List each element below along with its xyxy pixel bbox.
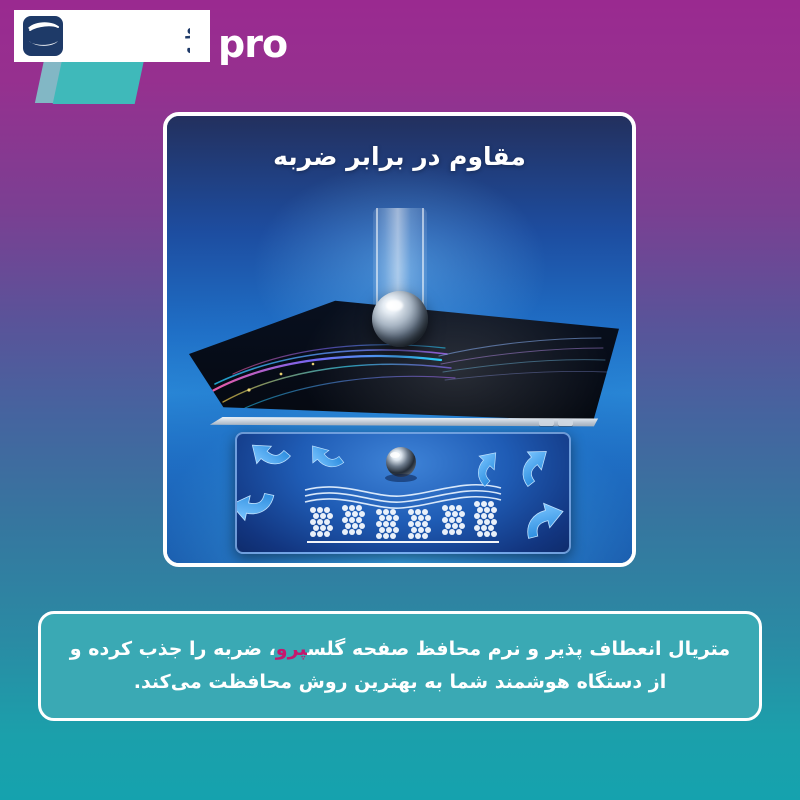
promo-page: pro تکنو لایف مقاوم در برابر ضربه	[0, 0, 800, 800]
panel-title: مقاوم در برابر ضربه	[167, 142, 632, 171]
technolife-logo-icon	[22, 15, 64, 57]
diagram-membrane-waves	[305, 485, 501, 508]
diagram-arrow-left-mid	[235, 487, 274, 525]
diagram-arrow-right-upper	[511, 443, 556, 487]
tablet-button-1	[558, 419, 573, 426]
pro-wordmark: pro	[218, 22, 287, 66]
diagram-arrow-left-upper	[245, 434, 290, 477]
product-image-panel[interactable]: مقاوم در برابر ضربه	[163, 112, 636, 567]
diagram-arrow-left-inner	[304, 437, 343, 478]
caption-brand-glass: گلس	[307, 638, 345, 660]
brand-header: pro تکنو لایف	[0, 0, 330, 110]
caption-box: متریال انعطاف پذیر و نرم محافظ صفحه گلسپ…	[38, 611, 762, 721]
tablet-button-2	[539, 419, 554, 426]
diagram-arrow-right-inner	[467, 446, 507, 486]
tablet-side-buttons	[539, 419, 573, 426]
caption-text: متریال انعطاف پذیر و نرم محافظ صفحه گلسپ…	[59, 633, 741, 700]
caption-part-1: متریال انعطاف پذیر و نرم محافظ صفحه	[345, 638, 730, 660]
caption-brand-pro: پرو	[276, 638, 307, 660]
logo-word-line2: لایف	[186, 36, 190, 58]
diagram-arrow-right-mid	[521, 499, 567, 538]
diagram-graphic	[235, 434, 569, 554]
diagram-ball	[386, 447, 416, 477]
technolife-logo-wordmark: تکنو لایف	[70, 14, 190, 58]
impact-absorption-diagram	[235, 432, 571, 554]
steel-ball-icon	[372, 291, 428, 347]
diagram-molecule-columns	[310, 501, 497, 539]
logo-plate[interactable]: تکنو لایف	[14, 10, 210, 62]
